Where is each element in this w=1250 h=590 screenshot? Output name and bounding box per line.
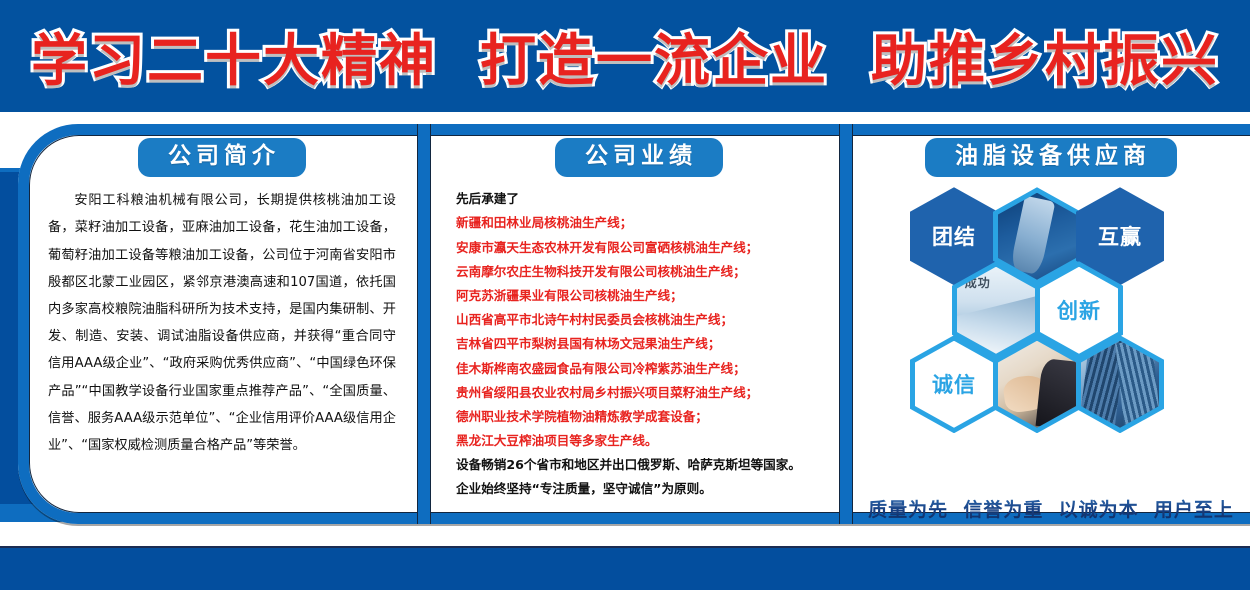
badge-supplier: 油脂设备供应商 [925, 138, 1177, 177]
performance-item: 云南摩尔农庄生物科技开发有限公司核桃油生产线； [456, 260, 822, 284]
performance-item: 德州职业技术学院植物油精炼教学成套设备； [456, 405, 822, 429]
panel-columns: 公司简介 安阳工科粮油机械有限公司，长期提供核桃油加工设备，菜籽油加工设备，亚麻… [18, 124, 1250, 524]
rocket-launch-icon [957, 267, 1035, 354]
hex-label-chengxin: 诚信 [932, 369, 976, 399]
hex-photo-inner [957, 267, 1035, 354]
skyscraper-icon [1081, 341, 1159, 428]
hex-photo-inner [998, 193, 1076, 280]
header-banner: 学习二十大精神 打造一流企业 助推乡村振兴 [0, 0, 1250, 112]
performance-lead: 先后承建了 [456, 187, 822, 211]
hex-label-tuanjie: 团结 [932, 221, 976, 251]
panel-company-intro: 公司简介 安阳工科粮油机械有限公司，长期提供核桃油加工设备，菜籽油加工设备，亚麻… [18, 124, 418, 524]
performance-item: 山西省高平市北诗午村村民委员会核桃油生产线； [456, 308, 822, 332]
performance-item: 安康市瀛天生态农林开发有限公司富硒核桃油生产线； [456, 236, 822, 260]
company-intro-text: 安阳工科粮油机械有限公司，长期提供核桃油加工设备，菜籽油加工设备，亚麻油加工设备… [48, 187, 396, 459]
badge-company-intro: 公司简介 [138, 138, 306, 177]
panel-divider-1 [418, 124, 430, 524]
performance-footer: 设备畅销26个省市和地区并出口俄罗斯、哈萨克斯坦等国家。 [456, 453, 822, 477]
panel-supplier: 油脂设备供应商 团结 互赢 [852, 124, 1250, 524]
hex-photo-inner [1081, 341, 1159, 428]
badge-company-performance: 公司业绩 [555, 138, 723, 177]
hex-photo-inner [998, 341, 1076, 428]
handshake-icon [998, 341, 1076, 428]
supplier-slogan: 质量为先 信誉为重 以诚为本 用户至上 [852, 495, 1250, 522]
poster-root: 学习二十大精神 打造一流企业 助推乡村振兴 公司简介 安阳工科粮油机械有限公司，… [0, 0, 1250, 590]
badge-wrap-supplier: 油脂设备供应商 [870, 138, 1232, 177]
performance-list: 先后承建了 新疆和田林业局核桃油生产线； 安康市瀛天生态农林开发有限公司富硒核桃… [456, 187, 822, 501]
bottom-blue-fill [0, 548, 1250, 590]
performance-item: 贵州省绥阳县农业农村局乡村振兴项目菜籽油生产线； [456, 381, 822, 405]
hex-label-chuangxin: 创新 [1057, 295, 1101, 325]
performance-footer: 企业始终坚持“专注质量，坚守诚信”为原则。 [456, 477, 822, 501]
performance-item: 黑龙江大豆榨油项目等多家生产线。 [456, 429, 822, 453]
performance-item: 新疆和田林业局核桃油生产线； [456, 211, 822, 235]
badge-wrap-intro: 公司简介 [48, 138, 396, 177]
performance-item: 佳木斯桦南农盛园食品有限公司冷榨紫苏油生产线； [456, 357, 822, 381]
hexagon-cluster: 团结 互赢 创新 [870, 185, 1232, 435]
hex-label-huying: 互赢 [1098, 221, 1142, 251]
header-title: 学习二十大精神 打造一流企业 助推乡村振兴 [31, 16, 1219, 97]
panel-company-performance: 公司业绩 先后承建了 新疆和田林业局核桃油生产线； 安康市瀛天生态农林开发有限公… [430, 124, 840, 524]
performance-item: 阿克苏浙疆果业有限公司核桃油生产线； [456, 284, 822, 308]
performance-item: 吉林省四平市梨树县国有林场文冠果油生产线； [456, 332, 822, 356]
panel-divider-2 [840, 124, 852, 524]
aircraft-carrier-icon [998, 193, 1076, 280]
badge-wrap-performance: 公司业绩 [456, 138, 822, 177]
